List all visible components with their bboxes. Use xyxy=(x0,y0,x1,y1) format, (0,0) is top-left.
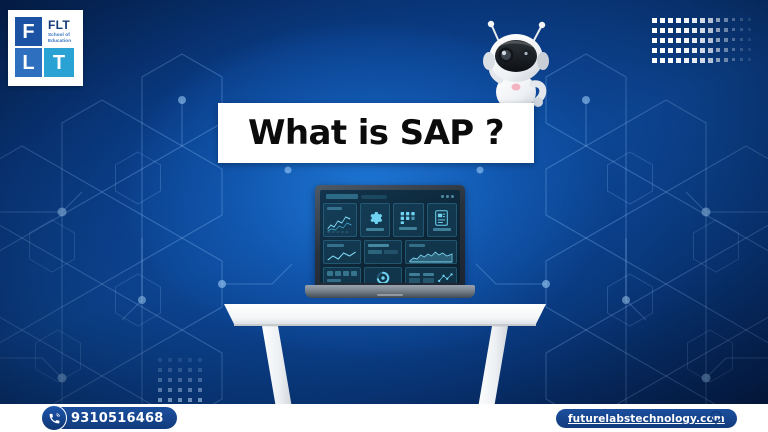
phone-badge[interactable]: 9310516468 xyxy=(45,407,177,429)
dashboard-row xyxy=(323,203,457,237)
website-url[interactable]: futurelabstechnology.com xyxy=(568,413,725,425)
robot-mascot xyxy=(470,14,562,114)
phone-icon xyxy=(41,405,67,431)
document-icon xyxy=(435,210,448,226)
kpi-card[interactable] xyxy=(323,267,361,283)
logo-tile-f: F xyxy=(15,17,42,46)
title-banner: What is SAP ? xyxy=(218,103,534,163)
bar-chart-icon xyxy=(409,250,453,263)
network-icon xyxy=(437,272,453,283)
stats-icon xyxy=(327,271,357,276)
search-icon[interactable] xyxy=(709,410,724,432)
dashboard-search-placeholder xyxy=(361,195,387,199)
flt-logo[interactable]: F FLT School of Education L T xyxy=(8,10,83,86)
apps-card-label xyxy=(399,227,417,230)
dot-grid-icon xyxy=(158,358,204,409)
line-chart-icon xyxy=(327,213,353,233)
laptop-lid xyxy=(315,185,465,290)
dot-grid-icon xyxy=(652,18,756,75)
donut-gauge-icon xyxy=(376,271,390,283)
settings-card[interactable] xyxy=(360,203,390,237)
laptop-illustration xyxy=(305,185,475,310)
dashboard-title-placeholder xyxy=(326,194,358,199)
apps-card[interactable] xyxy=(393,203,423,237)
grid-icon xyxy=(400,211,416,225)
analytics-card[interactable] xyxy=(405,240,457,264)
area-chart-icon xyxy=(327,250,357,263)
gauge-card[interactable] xyxy=(364,240,402,264)
dashboard-row xyxy=(323,240,457,264)
maximize-icon[interactable] xyxy=(446,195,449,198)
logo-tile-l: L xyxy=(15,48,42,77)
laptop-base xyxy=(305,285,475,298)
reports-card[interactable] xyxy=(427,203,457,237)
dashboard-titlebar xyxy=(323,193,457,200)
trend-card[interactable] xyxy=(323,240,361,264)
reports-card-label xyxy=(433,228,451,231)
settings-card-label xyxy=(366,228,384,231)
logo-tile-t: T xyxy=(44,48,74,77)
gauge-card[interactable] xyxy=(364,267,402,283)
banner-stage: F FLT School of Education L T xyxy=(0,0,768,432)
close-icon[interactable] xyxy=(451,195,454,198)
page-title: What is SAP ? xyxy=(248,113,504,153)
logo-wordmark: FLT School of Education xyxy=(44,17,74,46)
logo-wordmark-text: FLT xyxy=(48,19,74,32)
laptop-screen xyxy=(320,190,460,283)
minimize-icon[interactable] xyxy=(441,195,444,198)
gear-icon xyxy=(367,210,383,226)
dashboard-row xyxy=(323,267,457,283)
logo-tagline: School of Education xyxy=(48,32,74,43)
list-card[interactable] xyxy=(405,267,457,283)
phone-number: 9310516468 xyxy=(71,411,163,426)
logo-grid: F FLT School of Education L T xyxy=(15,17,77,77)
line-chart-card[interactable] xyxy=(323,203,357,237)
window-controls[interactable] xyxy=(441,195,454,198)
